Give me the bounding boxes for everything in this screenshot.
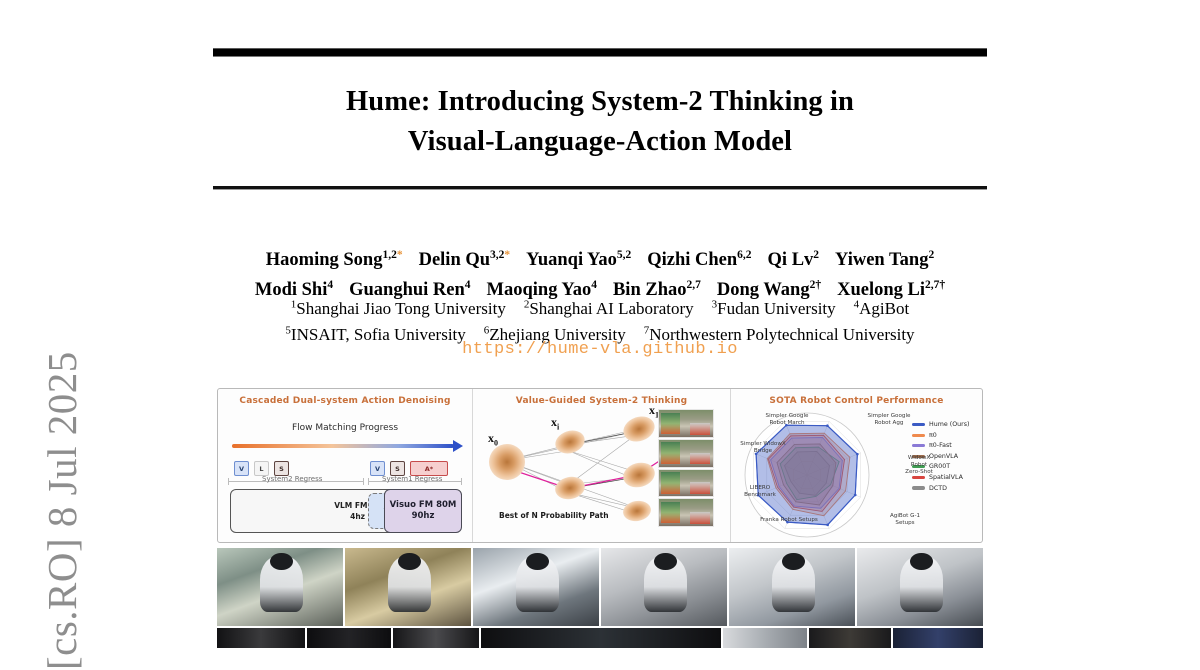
token-v-left: V [234,461,249,476]
affiliation-index: 7 [644,325,650,337]
robot-head-shape [526,553,549,570]
system2-regress-label: System2 Regress [262,475,322,483]
affiliation-list: 1Shanghai Jiao Tong University2Shanghai … [210,293,990,346]
robot-head-shape [782,553,805,570]
header-rule-bottom [213,186,987,190]
rollout-frame-strip [658,409,714,527]
legend-item: Hume (Ours) [912,421,978,428]
author-name: Haoming Song1,2* [266,250,403,270]
page-title-line-1: Hume: Introducing System-2 Thinking in [210,82,990,122]
label-xi-subscript: i [557,422,559,431]
token-l-left: L [254,461,269,476]
token-s-right: S [390,461,405,476]
teaser-figure: Cascaded Dual-system Action Denoising Fl… [217,388,983,543]
demo-photo [857,548,983,626]
demo-photo [307,628,391,648]
radar-axis-label: LIBERO Benchmark [735,485,785,499]
radar-axis-label: Franka Robot Setups [751,517,827,524]
author-equal-contribution-marker: * [504,249,510,261]
demo-photo [473,548,599,626]
header-rule-top [213,48,987,57]
label-x0-subscript: 0 [494,438,498,447]
demo-photo-grid [217,548,983,648]
figure-panel-dual-system: Cascaded Dual-system Action Denoising Fl… [218,389,473,542]
author-affiliation-marker: 2,7 [687,279,701,291]
author-name: Qi Lv2 [768,250,820,270]
author-affiliation-marker: 4 [327,279,333,291]
author-affiliation-marker: 5,2 [617,249,631,261]
visuo-fm-line2: 90hz [412,511,435,521]
legend-label: DCTD [929,485,947,492]
radar-axis-label: AgiBot G-1 Setups [879,513,931,527]
visuo-foundation-model-box: Visuo FM 80M 90hz [384,489,462,533]
affiliation-index: 1 [291,298,297,310]
radar-data-point [856,453,859,456]
author-affiliation-marker: 2 [813,249,819,261]
demo-photo [393,628,479,648]
figure-panel-value-guided-thinking: Value-Guided System-2 Thinking [473,389,731,542]
demo-photo [893,628,983,648]
label-xi: xi [551,415,559,431]
system1-regress-label: System1 Regress [382,475,442,483]
demo-photo [345,548,471,626]
token-s-left: S [274,461,289,476]
author-equal-contribution-marker: * [397,249,403,261]
robot-head-shape [910,553,933,570]
figure-panel-radar-performance: SOTA Robot Control Performance Hume (Our… [731,389,982,542]
radar-axis-label: Simpler Google Robot Agg [859,413,919,427]
best-of-n-caption: Best of N Probability Path [499,511,609,520]
affiliation-entry: 4AgiBot [854,299,910,318]
author-name: Qizhi Chen6,2 [647,250,751,270]
demo-photo [217,548,343,626]
legend-color-swatch [912,476,925,479]
paper-column: Hume: Introducing System-2 Thinking in V… [210,0,990,648]
radar-data-point [826,424,829,427]
panel1-title: Cascaded Dual-system Action Denoising [218,396,472,406]
affiliation-index: 6 [484,325,490,337]
affiliation-entry: 1Shanghai Jiao Tong University [291,299,506,318]
demo-photo [723,628,807,648]
affiliation-index: 3 [712,298,718,310]
flow-progress-arrow-icon [232,444,454,448]
legend-color-swatch [912,434,925,437]
page-title: Hume: Introducing System-2 Thinking in V… [210,82,990,162]
legend-label: π0 [929,432,937,439]
author-affiliation-marker: 2 [928,249,934,261]
label-x0: x0 [488,431,498,447]
visuo-fm-label: Visuo FM 80M 90hz [390,500,457,522]
arxiv-stamp: [cs.RO] 8 Jul 2025 [0,0,110,648]
token-v-right: V [370,461,385,476]
author-affiliation-marker: 2† [810,279,822,291]
affiliation-index: 2 [524,298,530,310]
rollout-frame-4 [658,498,714,527]
radar-data-point [854,494,857,497]
legend-label: Hume (Ours) [929,421,969,428]
robot-head-shape [654,553,677,570]
token-astar-right: A* [410,461,448,476]
demo-photo [729,548,855,626]
radar-axis-label: Simpler Google Robot March [757,413,817,427]
flow-matching-progress-label: Flow Matching Progress [218,423,472,433]
page-title-line-2: Visual-Language-Action Model [210,122,990,162]
author-affiliation-marker: 4 [465,279,471,291]
arxiv-stamp-text: [cs.RO] 8 Jul 2025 [38,250,86,670]
visuo-fm-line1: Visuo FM 80M [390,500,457,510]
demo-photo-row-2 [217,628,983,648]
radar-axis-label: Simpler WidowX Bridge [733,441,793,455]
legend-color-swatch [912,444,925,447]
author-affiliation-marker: 4 [591,279,597,291]
demo-photo [809,628,891,648]
demo-photo-row-1 [217,548,983,626]
demo-photo [601,548,727,626]
author-affiliation-marker: 1,2 [382,249,396,261]
legend-label: π0-Fast [929,442,952,449]
project-url-link[interactable]: https://hume-vla.github.io [210,340,990,359]
robot-head-shape [398,553,421,570]
demo-photo [217,628,305,648]
legend-item: DCTD [912,485,978,492]
robot-head-shape [270,553,293,570]
rollout-frame-1 [658,409,714,438]
radar-axis-label: WidowX Robot Zero-Shot [897,455,941,476]
vlm-fm-line2: 4hz [350,512,365,521]
affiliation-entry: 2Shanghai AI Laboratory [524,299,694,318]
panel3-title: SOTA Robot Control Performance [731,396,982,406]
author-name: Delin Qu3,2* [419,250,511,270]
author-affiliation-marker: 2,7† [925,279,945,291]
affiliation-index: 5 [285,325,291,337]
author-name: Yiwen Tang2 [835,250,934,270]
author-row-1: Haoming Song1,2*Delin Qu3,2*Yuanqi Yao5,… [210,243,990,273]
rollout-frame-2 [658,439,714,468]
author-affiliation-marker: 6,2 [737,249,751,261]
affiliation-row-1: 1Shanghai Jiao Tong University2Shanghai … [210,293,990,320]
legend-item: π0-Fast [912,442,978,449]
legend-item: π0 [912,432,978,439]
rollout-frame-3 [658,469,714,498]
legend-color-swatch [912,486,925,489]
author-affiliation-marker: 3,2 [490,249,504,261]
affiliation-index: 4 [854,298,860,310]
demo-photo [481,628,721,648]
affiliation-entry: 3Fudan University [712,299,836,318]
author-name: Yuanqi Yao5,2 [526,250,631,270]
distribution-blob-x0 [489,444,525,480]
